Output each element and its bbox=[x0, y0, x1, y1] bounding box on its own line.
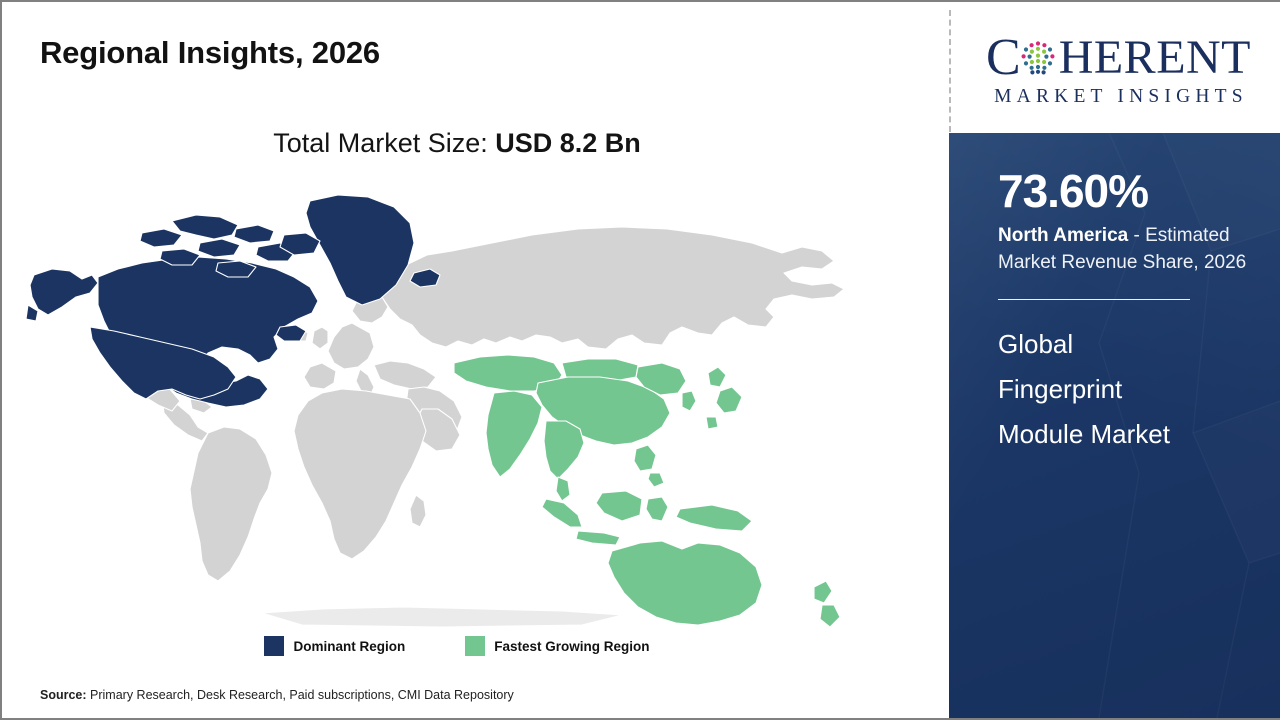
brand-logo: C bbox=[957, 2, 1280, 133]
market-size-value: USD 8.2 Bn bbox=[495, 128, 641, 158]
share-region-name: North America bbox=[998, 225, 1128, 246]
panel-divider bbox=[998, 299, 1190, 301]
share-description: North America - Estimated Market Revenue… bbox=[998, 223, 1252, 277]
source-line: Source: Primary Research, Desk Research,… bbox=[40, 688, 514, 702]
legend-item-fastest-growing: Fastest Growing Region bbox=[465, 636, 649, 656]
map-legend: Dominant Region Fastest Growing Region bbox=[2, 636, 912, 656]
globe-dot-sphere-icon bbox=[1018, 37, 1058, 77]
logo-wordmark-rest: HERENT bbox=[1059, 34, 1251, 82]
legend-label-dominant: Dominant Region bbox=[293, 639, 405, 654]
market-size-label: Total Market Size: bbox=[273, 128, 495, 158]
fastest-growing-region-swatch bbox=[465, 636, 485, 656]
dominant-region-swatch bbox=[264, 636, 284, 656]
world-map bbox=[22, 177, 922, 627]
slide-canvas: Regional Insights, 2026 Total Market Siz… bbox=[2, 2, 1278, 718]
market-name-line-1: Global bbox=[998, 322, 1252, 367]
source-label: Source: bbox=[40, 688, 87, 702]
market-name-line-2: Fingerprint bbox=[998, 367, 1252, 412]
stat-panel: 73.60% North America - Estimated Market … bbox=[949, 133, 1280, 718]
map-region-asia-pacific bbox=[454, 355, 840, 627]
logo-wordmark: C bbox=[986, 33, 1251, 83]
logo-letter-c: C bbox=[986, 32, 1021, 84]
legend-label-fastest-growing: Fastest Growing Region bbox=[494, 639, 649, 654]
market-name: Global Fingerprint Module Market bbox=[998, 322, 1252, 456]
legend-item-dominant: Dominant Region bbox=[264, 636, 405, 656]
world-map-svg bbox=[22, 177, 922, 627]
page-title: Regional Insights, 2026 bbox=[40, 35, 380, 71]
logo-tagline: MARKET INSIGHTS bbox=[989, 86, 1248, 108]
total-market-size: Total Market Size: USD 8.2 Bn bbox=[2, 128, 912, 159]
share-percentage: 73.60% bbox=[998, 168, 1252, 215]
source-text: Primary Research, Desk Research, Paid su… bbox=[87, 688, 514, 702]
left-content-pane: Regional Insights, 2026 Total Market Siz… bbox=[2, 2, 949, 718]
vertical-dashed-divider bbox=[949, 10, 951, 132]
market-name-line-3: Module Market bbox=[998, 412, 1252, 457]
